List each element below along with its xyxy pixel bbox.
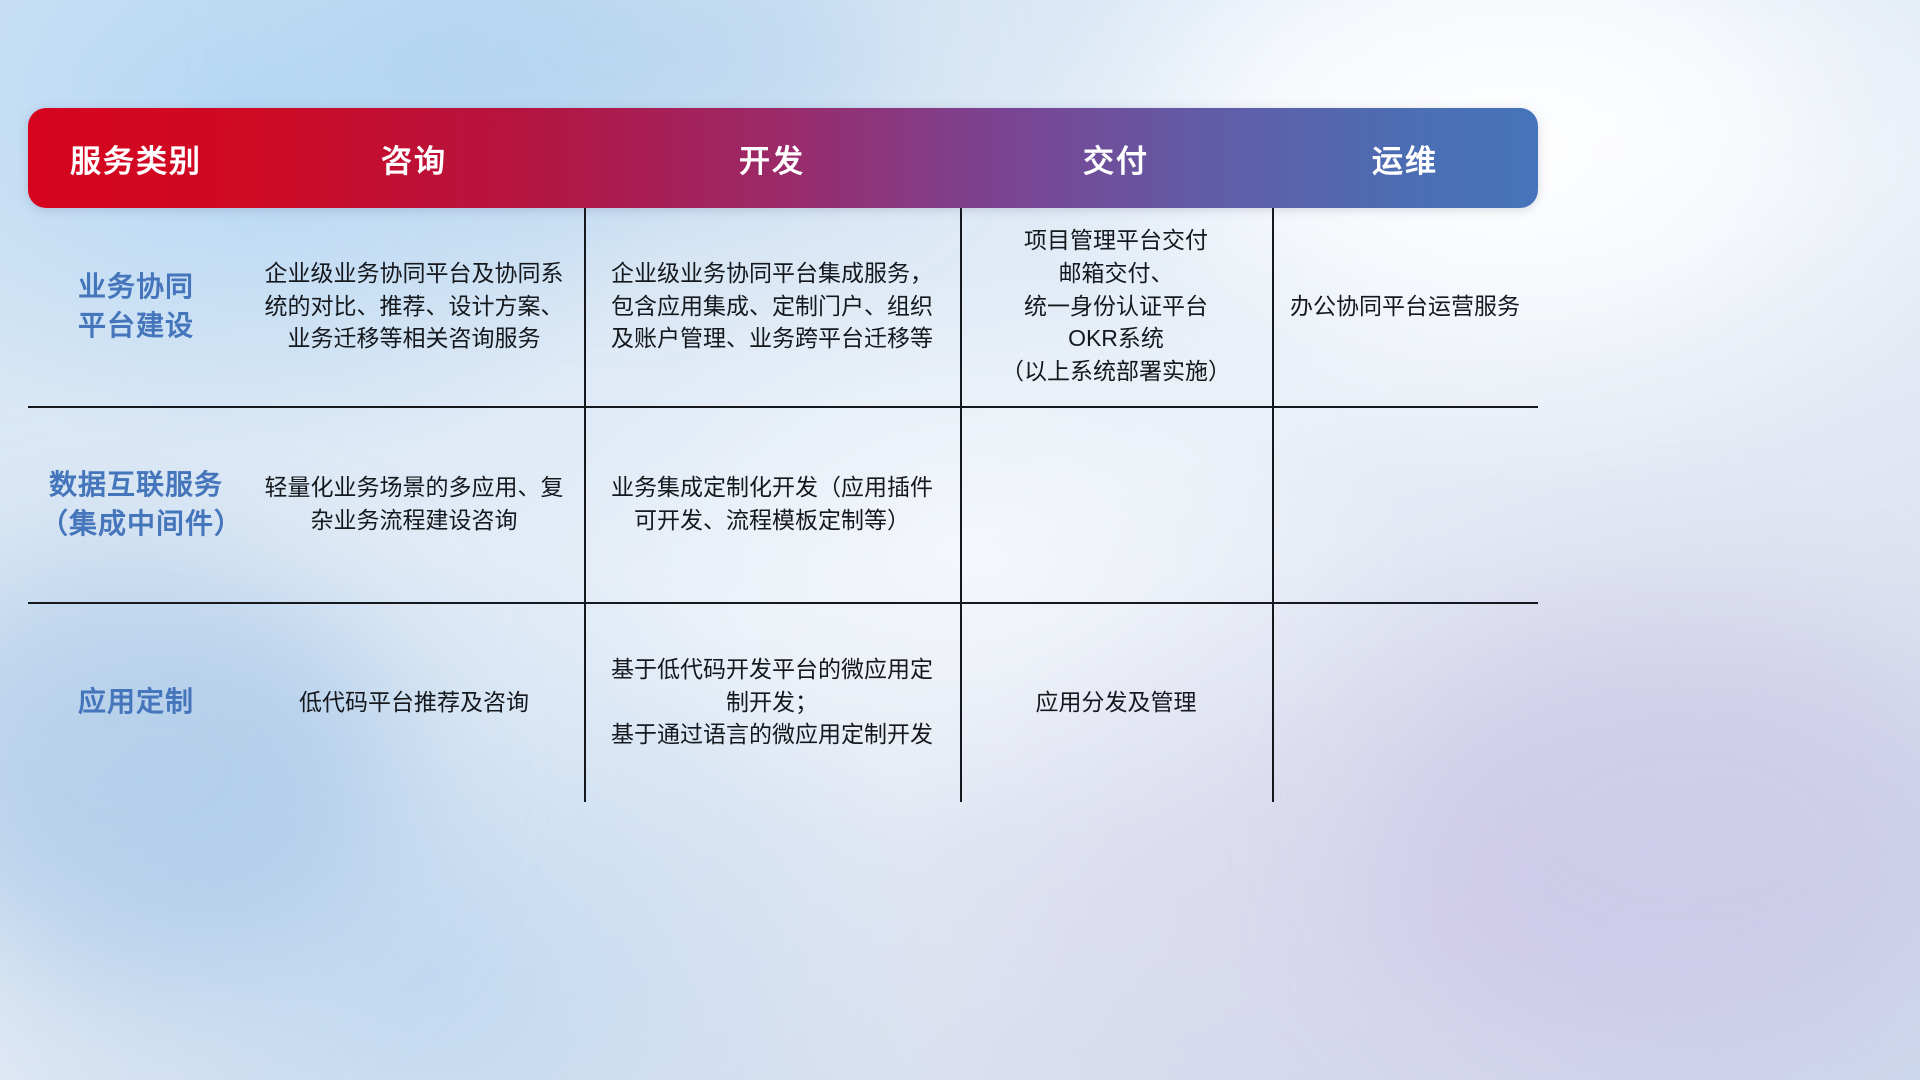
cell-consulting: 低代码平台推荐及咨询: [244, 602, 584, 802]
column-header-category: 服务类别: [28, 136, 244, 181]
column-header-delivery: 交付: [960, 136, 1272, 181]
cell-operations: [1272, 602, 1538, 802]
table-row: 数据互联服务 （集成中间件） 轻量化业务场景的多应用、复 杂业务流程建设咨询 业…: [28, 406, 1538, 602]
row-category-label: 业务协同 平台建设: [28, 206, 244, 406]
service-matrix-table: 服务类别 咨询 开发 交付 运维 业务协同 平台建设 企业级业务协同平台及协同系…: [28, 108, 1538, 802]
column-header-operations: 运维: [1272, 136, 1538, 181]
cell-development: 企业级业务协同平台集成服务， 包含应用集成、定制门户、组织 及账户管理、业务跨平…: [584, 206, 960, 406]
slide-canvas: 服务类别 咨询 开发 交付 运维 业务协同 平台建设 企业级业务协同平台及协同系…: [0, 0, 1920, 1080]
cell-operations: 办公协同平台运营服务: [1272, 206, 1538, 406]
cell-delivery: 项目管理平台交付 邮箱交付、 统一身份认证平台 OKR系统 （以上系统部署实施）: [960, 206, 1272, 406]
column-header-consulting: 咨询: [244, 136, 584, 181]
cell-consulting: 轻量化业务场景的多应用、复 杂业务流程建设咨询: [244, 406, 584, 602]
column-divider-1: [584, 206, 586, 802]
table-row: 业务协同 平台建设 企业级业务协同平台及协同系 统的对比、推荐、设计方案、 业务…: [28, 206, 1538, 406]
column-divider-3: [1272, 206, 1274, 802]
cell-development: 基于低代码开发平台的微应用定 制开发； 基于通过语言的微应用定制开发: [584, 602, 960, 802]
row-category-label: 应用定制: [28, 602, 244, 802]
cell-delivery: [960, 406, 1272, 602]
column-header-development: 开发: [584, 136, 960, 181]
row-divider-1: [28, 406, 1538, 408]
row-divider-2: [28, 602, 1538, 604]
table-header-row: 服务类别 咨询 开发 交付 运维: [28, 108, 1538, 208]
cell-delivery: 应用分发及管理: [960, 602, 1272, 802]
table-row: 应用定制 低代码平台推荐及咨询 基于低代码开发平台的微应用定 制开发； 基于通过…: [28, 602, 1538, 802]
cell-operations: [1272, 406, 1538, 602]
column-divider-2: [960, 206, 962, 802]
cell-development: 业务集成定制化开发（应用插件 可开发、流程模板定制等）: [584, 406, 960, 602]
table-body: 业务协同 平台建设 企业级业务协同平台及协同系 统的对比、推荐、设计方案、 业务…: [28, 206, 1538, 802]
cell-consulting: 企业级业务协同平台及协同系 统的对比、推荐、设计方案、 业务迁移等相关咨询服务: [244, 206, 584, 406]
row-category-label: 数据互联服务 （集成中间件）: [28, 406, 244, 602]
